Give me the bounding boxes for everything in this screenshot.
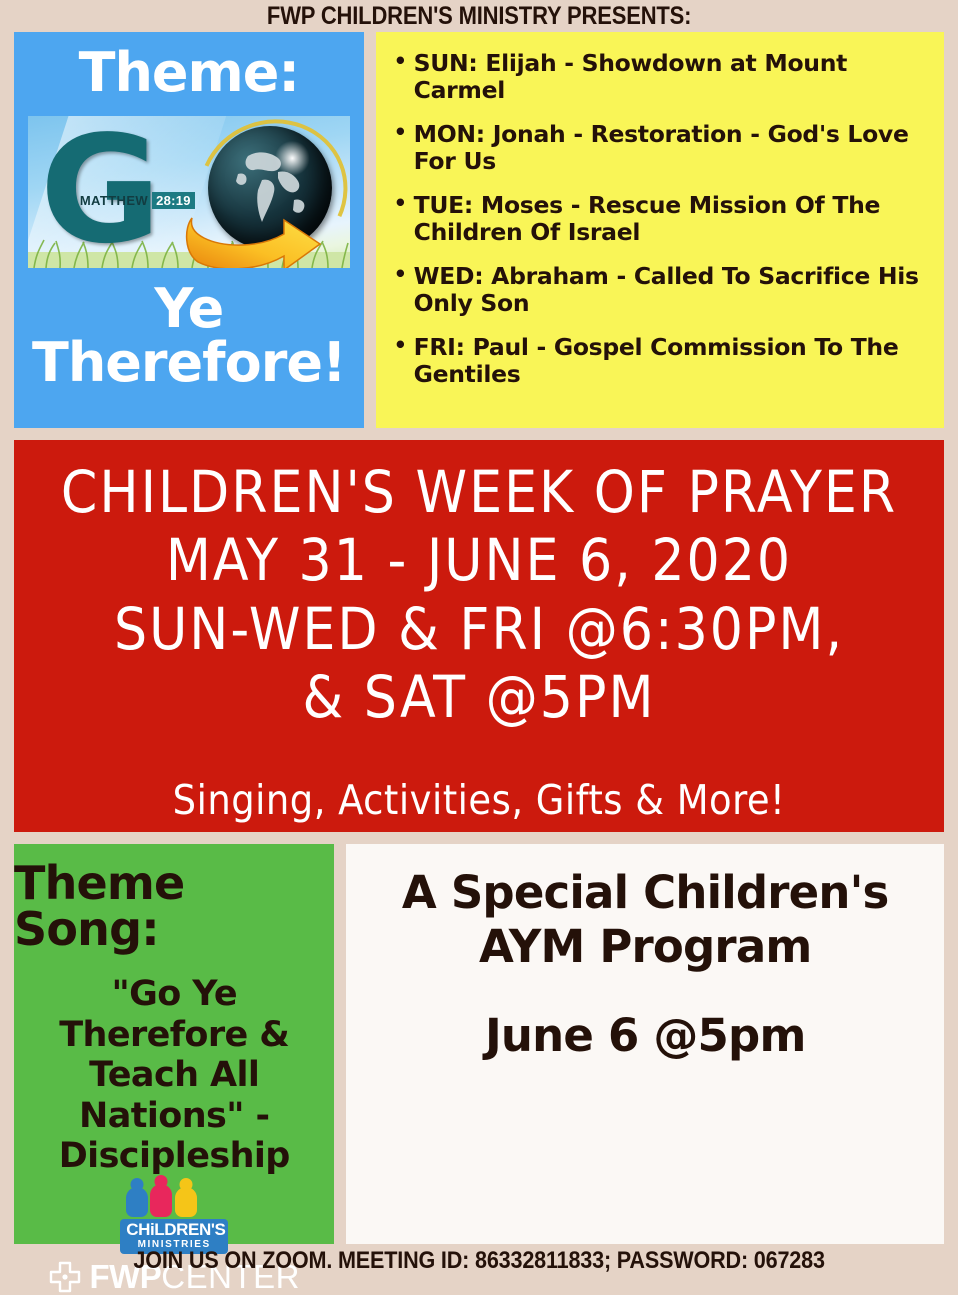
list-item: MON: Jonah - Restoration - God's Love Fo… xyxy=(392,121,934,176)
arrow-icon xyxy=(160,176,342,268)
bottom-row: Theme Song: "Go Ye Therefore & Teach All… xyxy=(0,832,958,1244)
aym-title: A Special Children's AYM Program xyxy=(358,866,932,973)
theme-tagline: Ye Therefore! xyxy=(14,282,364,390)
list-item: TUE: Moses - Rescue Mission Of The Child… xyxy=(392,192,934,247)
header-title: FWP CHILDREN'S MINISTRY PRESENTS: xyxy=(267,2,691,31)
banner-times-saturday: & SAT @5PM xyxy=(303,663,656,731)
flyer-poster: FWP CHILDREN'S MINISTRY PRESENTS: Theme: xyxy=(0,0,958,1277)
verse-book-label: MATTHEW xyxy=(80,192,152,209)
top-row: Theme: xyxy=(0,32,958,428)
list-item: SUN: Elijah - Showdown at Mount Carmel xyxy=(392,50,934,105)
logo-letter-g: G xyxy=(40,124,157,256)
person-figure-blue xyxy=(126,1187,148,1217)
verse-reference-badge: 28:19 xyxy=(152,192,195,209)
go-ye-therefore-logo: G MATTHEW 28:19 xyxy=(28,116,350,268)
aym-program-panel: A Special Children's AYM Program June 6 … xyxy=(346,844,944,1244)
childrens-ministries-logo: CHiLDREN'S MINISTRIES xyxy=(120,1183,228,1255)
event-banner: CHILDREN'S WEEK OF PRAYER MAY 31 - JUNE … xyxy=(14,440,944,832)
globe-graphic xyxy=(194,120,344,266)
theme-song-lyric: "Go Ye Therefore & Teach All Nations" -D… xyxy=(14,974,334,1177)
people-icon xyxy=(120,1183,228,1217)
schedule-panel: SUN: Elijah - Showdown at Mount Carmel M… xyxy=(376,32,944,428)
logo-verse: MATTHEW 28:19 xyxy=(80,192,195,209)
theme-song-title: Theme Song: xyxy=(14,860,334,952)
theme-song-panel: Theme Song: "Go Ye Therefore & Teach All… xyxy=(14,844,334,1244)
banner-times-weekday: SUN-WED & FRI @6:30PM, xyxy=(114,595,844,663)
person-figure-yellow xyxy=(175,1187,197,1217)
ministries-badge-line1: CHiLDREN'S xyxy=(126,1221,222,1238)
theme-label: Theme: xyxy=(79,46,299,100)
poster-footer: JOIN US ON ZOOM. MEETING ID: 86332811833… xyxy=(0,1244,958,1277)
list-item: FRI: Paul - Gospel Commission To The Gen… xyxy=(392,334,934,389)
aym-date: June 6 @5pm xyxy=(485,1009,806,1062)
logo-stack: CHiLDREN'S MINISTRIES FWPCENTER xyxy=(48,1183,300,1294)
zoom-details: JOIN US ON ZOOM. MEETING ID: 86332811833… xyxy=(133,1247,824,1275)
banner-subtitle: Singing, Activities, Gifts & More! xyxy=(173,776,786,824)
banner-title: CHILDREN'S WEEK OF PRAYER xyxy=(61,458,897,526)
person-figure-pink xyxy=(150,1184,172,1217)
schedule-list: SUN: Elijah - Showdown at Mount Carmel M… xyxy=(392,50,934,405)
theme-panel: Theme: xyxy=(14,32,364,428)
poster-header: FWP CHILDREN'S MINISTRY PRESENTS: xyxy=(0,0,958,32)
banner-dates: MAY 31 - JUNE 6, 2020 xyxy=(166,526,792,594)
list-item: WED: Abraham - Called To Sacrifice His O… xyxy=(392,263,934,318)
